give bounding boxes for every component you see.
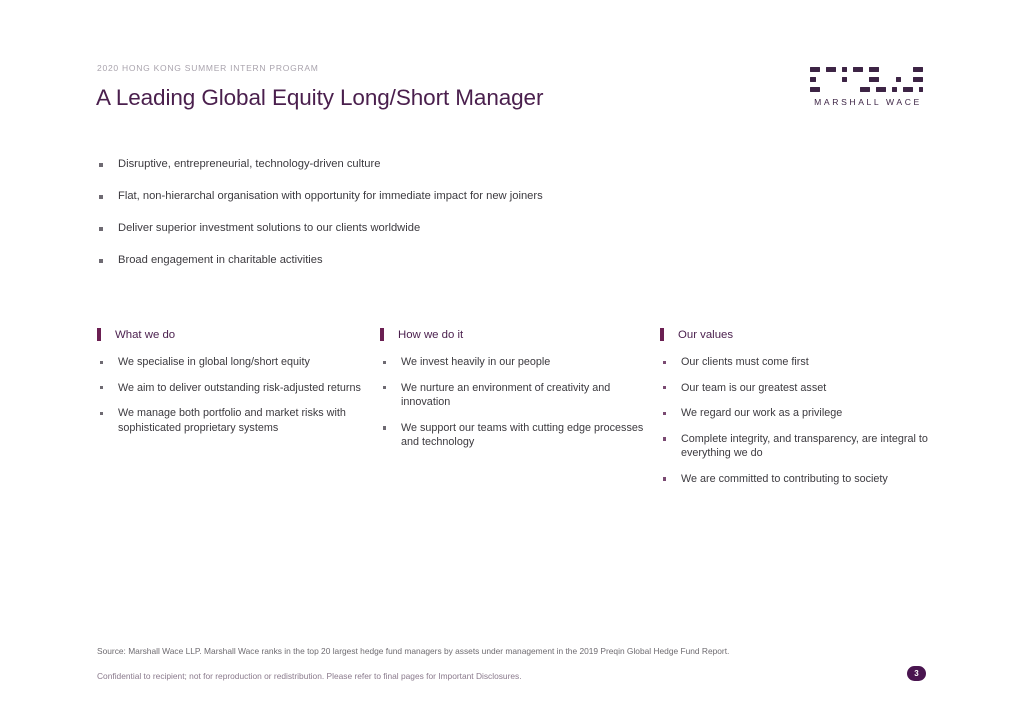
column-our-values: Our values Our clients must come first O… — [660, 328, 937, 487]
list-item-text: Broad engagement in charitable activitie… — [118, 254, 323, 266]
list-item-text: We aim to deliver outstanding risk-adjus… — [118, 382, 361, 394]
square-bullet-icon — [100, 412, 103, 415]
column-what-we-do: What we do We specialise in global long/… — [97, 328, 380, 435]
list-item: Broad engagement in charitable activitie… — [97, 253, 737, 268]
page-title: A Leading Global Equity Long/Short Manag… — [96, 85, 543, 111]
accent-bar-icon — [97, 328, 101, 341]
list-item-text: We manage both portfolio and market risk… — [118, 407, 346, 434]
square-bullet-icon — [663, 412, 666, 415]
list-item: We support our teams with cutting edge p… — [380, 421, 660, 450]
list-item-text: Our team is our greatest asset — [681, 382, 826, 394]
list-item-text: Flat, non-hierarchal organisation with o… — [118, 190, 543, 202]
footer-confidentiality-note: Confidential to recipient; not for repro… — [97, 670, 522, 682]
list-item: We nurture an environment of creativity … — [380, 381, 660, 410]
list-item-text: We support our teams with cutting edge p… — [401, 422, 643, 449]
list-item: Flat, non-hierarchal organisation with o… — [97, 189, 737, 204]
list-item: Complete integrity, and transparency, ar… — [660, 432, 937, 461]
square-bullet-icon — [663, 361, 666, 364]
footer-divider — [97, 636, 926, 637]
column-heading: Our values — [660, 328, 937, 342]
intro-bullet-list: Disruptive, entrepreneurial, technology-… — [97, 157, 737, 268]
logo-dot-mark-icon — [806, 66, 930, 96]
list-item-text: Our clients must come first — [681, 356, 809, 368]
marshall-wace-logo: MARSHALL WACE — [806, 66, 930, 118]
list-item: Deliver superior investment solutions to… — [97, 221, 737, 236]
square-bullet-icon — [663, 437, 666, 440]
column-heading-text: Our values — [678, 329, 733, 341]
square-bullet-icon — [100, 386, 103, 389]
list-item: We manage both portfolio and market risk… — [97, 406, 380, 435]
column-bullet-list: We invest heavily in our people We nurtu… — [380, 355, 660, 450]
accent-bar-icon — [380, 328, 384, 341]
square-bullet-icon — [663, 477, 666, 480]
footer-source-note: Source: Marshall Wace LLP. Marshall Wace… — [97, 645, 729, 657]
page-number-badge: 3 — [907, 666, 926, 681]
square-bullet-icon — [663, 386, 666, 389]
list-item: Our team is our greatest asset — [660, 381, 937, 396]
accent-bar-icon — [660, 328, 664, 341]
column-heading: How we do it — [380, 328, 660, 342]
list-item-text: Complete integrity, and transparency, ar… — [681, 433, 928, 460]
list-item-text: We are committed to contributing to soci… — [681, 473, 888, 485]
square-bullet-icon — [383, 361, 386, 364]
three-column-section: What we do We specialise in global long/… — [97, 328, 937, 487]
square-bullet-icon — [100, 361, 103, 364]
list-item: We are committed to contributing to soci… — [660, 472, 937, 487]
list-item-text: We specialise in global long/short equit… — [118, 356, 310, 368]
list-item-text: We regard our work as a privilege — [681, 407, 842, 419]
list-item: We regard our work as a privilege — [660, 406, 937, 421]
column-how-we-do-it: How we do it We invest heavily in our pe… — [380, 328, 660, 450]
square-bullet-icon — [99, 259, 103, 263]
square-bullet-icon — [383, 386, 386, 389]
list-item: Disruptive, entrepreneurial, technology-… — [97, 157, 737, 172]
list-item-text: We nurture an environment of creativity … — [401, 382, 610, 409]
list-item-text: Deliver superior investment solutions to… — [118, 222, 420, 234]
square-bullet-icon — [99, 195, 103, 199]
square-bullet-icon — [383, 426, 386, 429]
column-bullet-list: We specialise in global long/short equit… — [97, 355, 380, 435]
list-item: We specialise in global long/short equit… — [97, 355, 380, 370]
list-item-text: Disruptive, entrepreneurial, technology-… — [118, 158, 380, 170]
column-heading-text: What we do — [115, 329, 175, 341]
column-heading-text: How we do it — [398, 329, 463, 341]
column-heading: What we do — [97, 328, 380, 342]
square-bullet-icon — [99, 227, 103, 231]
slide-canvas: 2020 HONG KONG SUMMER INTERN PROGRAM A L… — [0, 0, 1024, 724]
list-item-text: We invest heavily in our people — [401, 356, 550, 368]
list-item: We invest heavily in our people — [380, 355, 660, 370]
slide-eyebrow: 2020 HONG KONG SUMMER INTERN PROGRAM — [97, 63, 319, 73]
list-item: We aim to deliver outstanding risk-adjus… — [97, 381, 380, 396]
list-item: Our clients must come first — [660, 355, 937, 370]
column-bullet-list: Our clients must come first Our team is … — [660, 355, 937, 487]
square-bullet-icon — [99, 163, 103, 167]
logo-wordmark: MARSHALL WACE — [806, 97, 930, 107]
